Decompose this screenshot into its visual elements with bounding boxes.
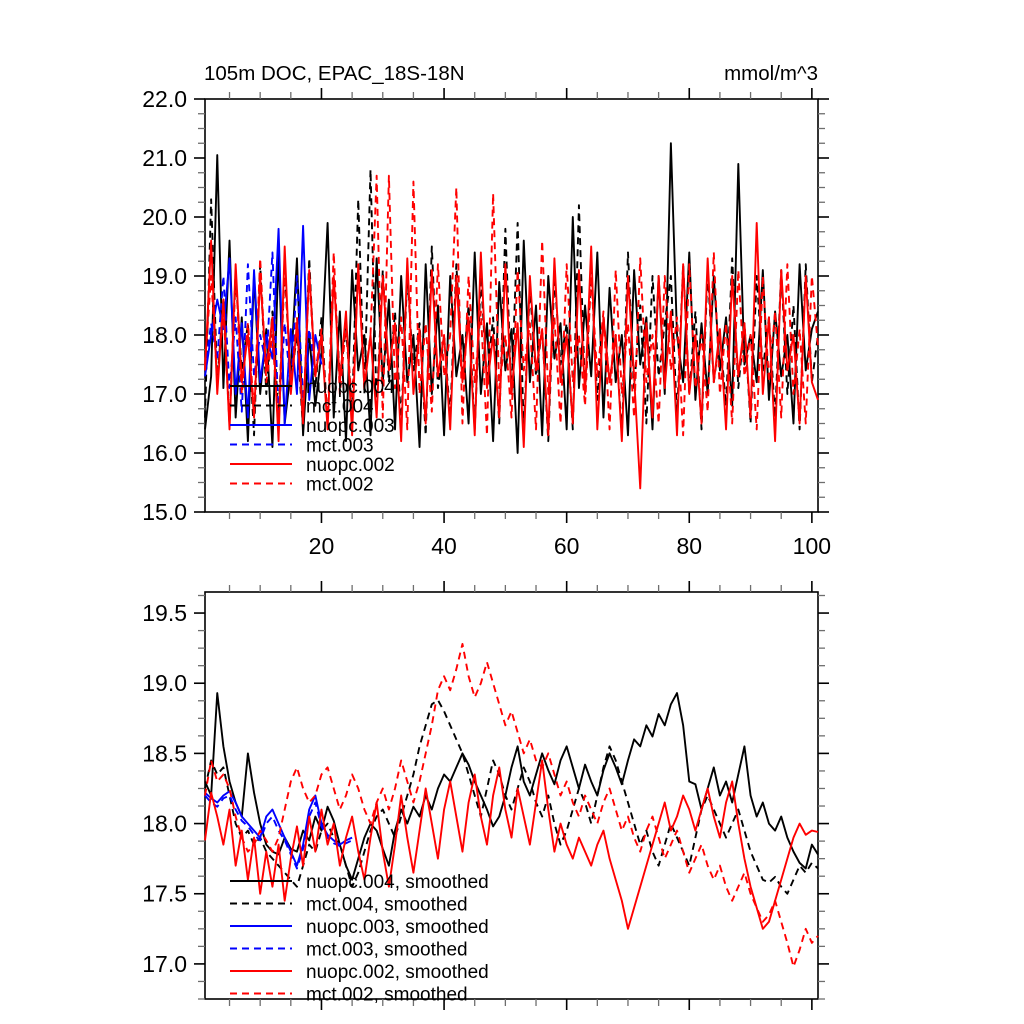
figure-canvas: 105m DOC, EPAC_18S-18N mmol/m^3 15.016.0… (0, 0, 1024, 1024)
top-panel: 105m DOC, EPAC_18S-18N mmol/m^3 15.016.0… (0, 0, 1024, 565)
legend-label[interactable]: nuopc.004, smoothed (306, 872, 489, 893)
y-tick-label: 22.0 (142, 86, 187, 112)
top-panel-title-group: 105m DOC, EPAC_18S-18N mmol/m^3 (204, 62, 818, 85)
y-tick-label: 19.0 (142, 263, 187, 289)
y-tick-label: 16.0 (142, 440, 187, 466)
y-tick-label: 19.0 (142, 670, 187, 696)
y-tick-label: 17.5 (142, 881, 187, 907)
x-tick-label: 100 (793, 533, 831, 559)
series-line-mct-003-smoothed (205, 796, 352, 869)
legend-label[interactable]: nuopc.003, smoothed (306, 917, 489, 938)
y-tick-label: 20.0 (142, 204, 187, 230)
bottom-panel: 17.017.518.018.519.019.5 nuopc.004, smoo… (0, 565, 1024, 1024)
plot-frame (205, 99, 818, 512)
legend-label[interactable]: mct.003, smoothed (306, 940, 468, 961)
legend-label[interactable]: nuopc.003 (306, 416, 395, 437)
x-tick-label: 40 (431, 533, 457, 559)
top-panel-series (205, 143, 818, 488)
legend-label[interactable]: mct.004, smoothed (306, 895, 468, 916)
legend-label[interactable]: nuopc.002, smoothed (306, 962, 489, 983)
bottom-panel-svg: 17.017.518.018.519.019.5 nuopc.004, smoo… (0, 565, 1024, 1024)
y-tick-label: 15.0 (142, 499, 187, 525)
y-tick-label: 18.0 (142, 811, 187, 837)
chart-title: 105m DOC, EPAC_18S-18N (204, 62, 465, 85)
y-tick-label: 17.0 (142, 381, 187, 407)
series-line-nuopc-004-smoothed (205, 693, 818, 880)
y-tick-label: 18.0 (142, 322, 187, 348)
x-tick-label: 20 (309, 533, 335, 559)
x-tick-label: 80 (676, 533, 702, 559)
legend-label[interactable]: mct.002, smoothed (306, 985, 468, 1006)
y-tick-label: 19.5 (142, 600, 187, 626)
legend-label[interactable]: mct.003 (306, 436, 374, 457)
x-tick-label: 60 (554, 533, 580, 559)
legend-label[interactable]: mct.004 (306, 397, 374, 418)
legend-label[interactable]: nuopc.004 (306, 377, 395, 398)
series-line-nuopc-002-smoothed (205, 760, 818, 928)
y-tick-label: 17.0 (142, 951, 187, 977)
bottom-panel-legend[interactable]: nuopc.004, smoothedmct.004, smoothednuop… (230, 872, 489, 1006)
y-tick-label: 18.5 (142, 740, 187, 766)
legend-label[interactable]: nuopc.002 (306, 455, 395, 476)
legend-label[interactable]: mct.002 (306, 475, 374, 496)
plot-frame (205, 592, 818, 999)
bottom-panel-series (205, 644, 818, 967)
units-label: mmol/m^3 (724, 62, 818, 85)
y-tick-label: 21.0 (142, 145, 187, 171)
series-line-mct-004 (205, 170, 818, 441)
top-panel-svg: 105m DOC, EPAC_18S-18N mmol/m^3 15.016.0… (0, 0, 1024, 565)
